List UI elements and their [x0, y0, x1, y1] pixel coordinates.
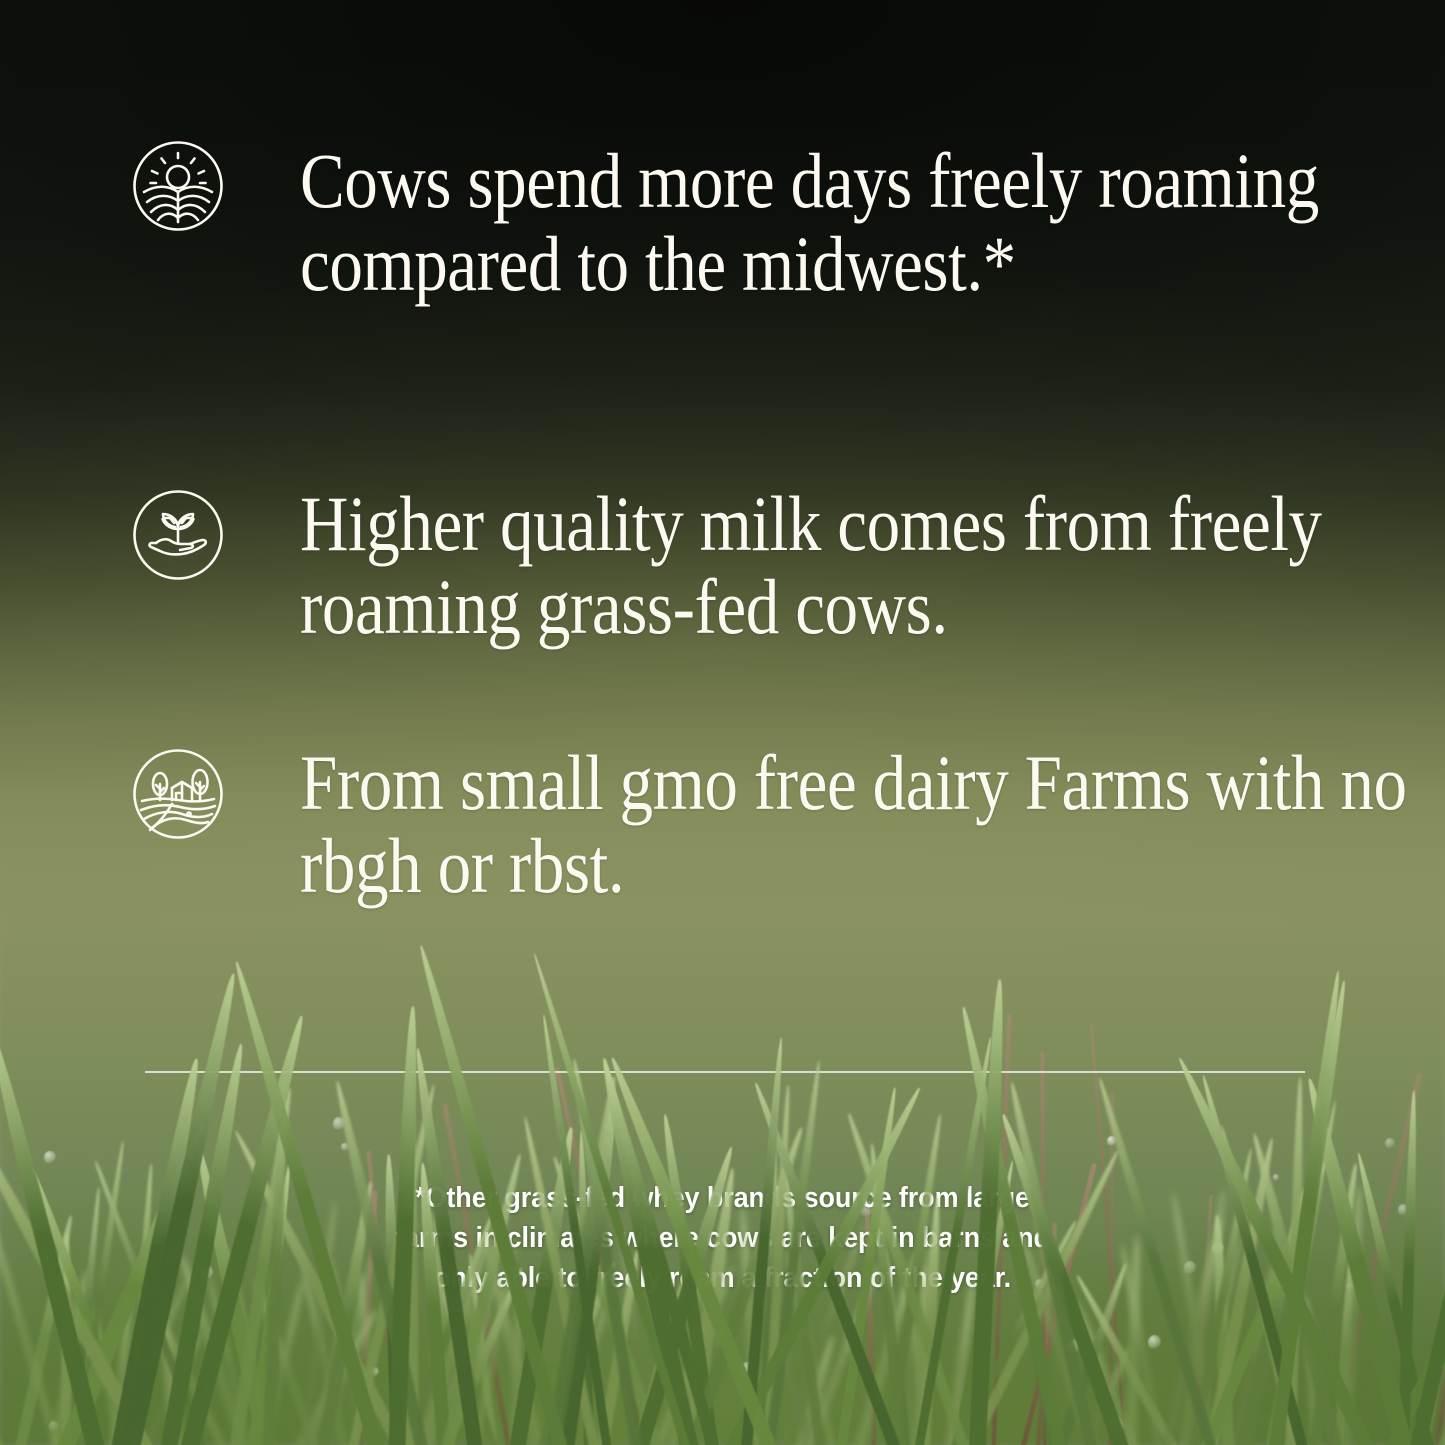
- farm-barn-fields-icon: [132, 748, 224, 840]
- sun-over-field-icon: [132, 140, 224, 232]
- section-divider: [145, 1071, 1305, 1073]
- benefits-poster: Cows spend more days freely roaming comp…: [0, 0, 1445, 1445]
- benefit-text-3: From small gmo free dairy Farms with no …: [300, 742, 1445, 907]
- benefit-text-1: Cows spend more days freely roaming comp…: [300, 140, 1445, 305]
- hand-holding-plant-icon: [132, 489, 224, 581]
- benefit-text-2: Higher quality milk comes from freely ro…: [300, 483, 1445, 648]
